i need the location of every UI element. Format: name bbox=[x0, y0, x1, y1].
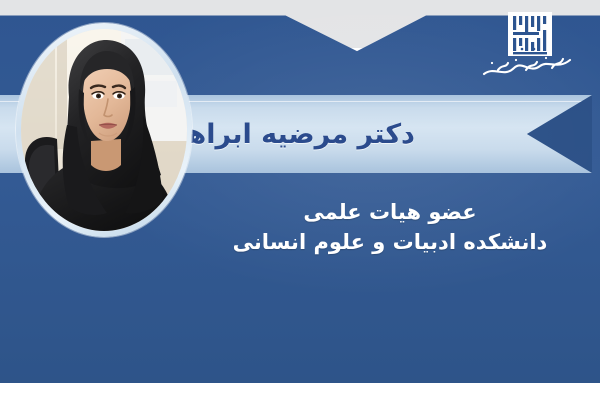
subtitle-role: عضو هیات علمی bbox=[195, 198, 585, 228]
subtitle-block: عضو هیات علمی دانشکده ادبیات و علوم انسا… bbox=[195, 198, 585, 258]
university-logo: دانشگاه شهید بهشتی bbox=[478, 8, 582, 84]
banner-stage: دانشگاه شهید بهشتی دکتر مرضیه ابراهیمی bbox=[0, 0, 600, 400]
subtitle-faculty: دانشکده ادبیات و علوم انسانی bbox=[195, 228, 585, 258]
bottom-white-band bbox=[0, 383, 600, 400]
portrait-frame bbox=[16, 23, 192, 237]
portrait-photo bbox=[21, 29, 187, 231]
